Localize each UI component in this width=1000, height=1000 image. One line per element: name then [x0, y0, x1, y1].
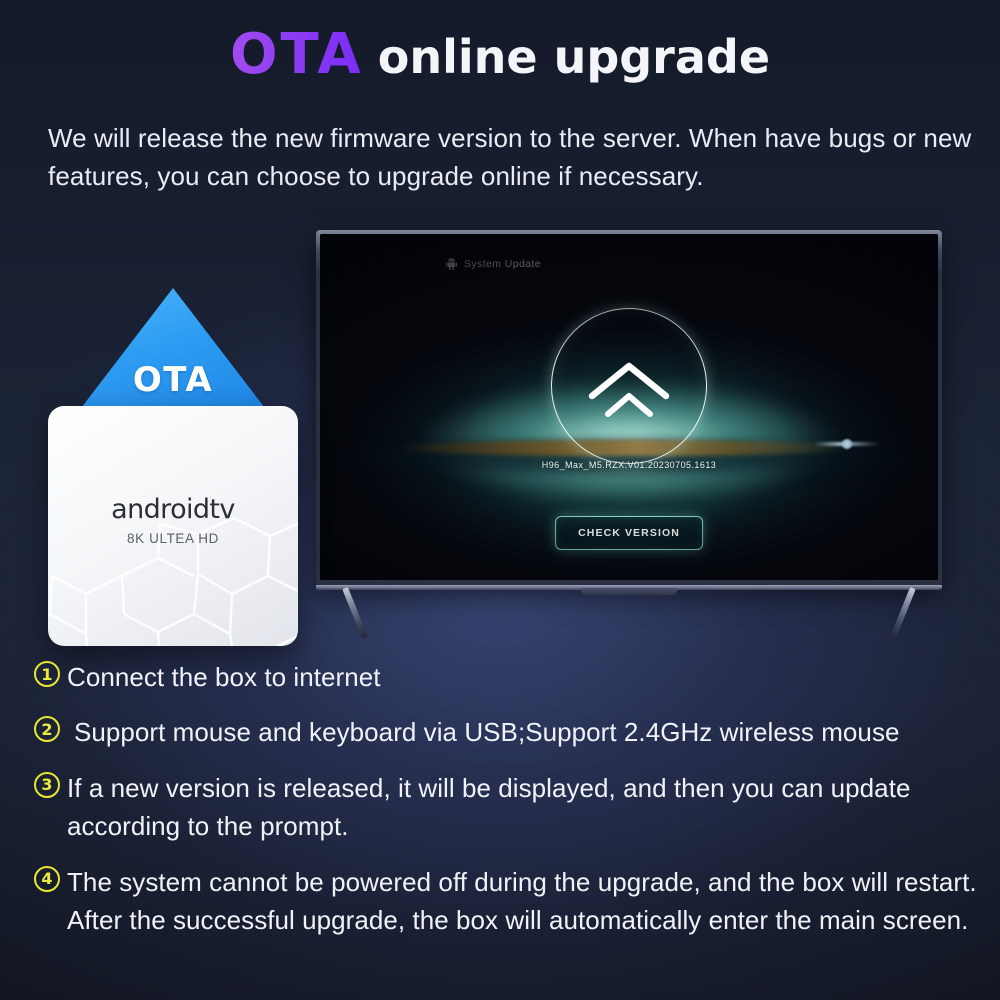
tv-bezel: System Update H96_Max_M5.RZX.V01.2023070…: [316, 230, 942, 585]
list-item: 4 The system cannot be powered off durin…: [34, 863, 979, 940]
page-title: OTAonline upgrade: [0, 22, 1000, 87]
intro-paragraph: We will release the new firmware version…: [48, 120, 988, 195]
list-item-text: If a new version is released, it will be…: [67, 769, 979, 846]
tv-leg-right: [890, 587, 916, 639]
list-item-text: Connect the box to internet: [67, 658, 381, 696]
title-rest: online upgrade: [378, 30, 770, 84]
list-item: 2 Support mouse and keyboard via USB;Sup…: [34, 713, 979, 751]
list-item-text: The system cannot be powered off during …: [67, 863, 979, 940]
android-tv-box: OTA: [48, 288, 298, 648]
list-item: 1 Connect the box to internet: [34, 658, 979, 696]
tv-screen: System Update H96_Max_M5.RZX.V01.2023070…: [320, 234, 938, 580]
androidtv-wordmark: androidtv: [111, 494, 235, 525]
box-body: androidtv 5G 8K ULTEA HD: [48, 406, 298, 646]
instructions-list: 1 Connect the box to internet 2 Support …: [34, 658, 979, 957]
ota-badge-label: OTA: [133, 360, 213, 400]
list-item-number: 1: [34, 661, 60, 687]
page-root: OTAonline upgrade We will release the ne…: [0, 0, 1000, 1000]
tv-illustration: System Update H96_Max_M5.RZX.V01.2023070…: [316, 230, 942, 640]
tv-center-logo-bar: [581, 588, 677, 595]
list-item-number: 4: [34, 866, 60, 892]
tv-leg-left: [342, 587, 368, 639]
list-item: 3 If a new version is released, it will …: [34, 769, 979, 846]
list-item-text: Support mouse and keyboard via USB;Suppo…: [67, 713, 900, 751]
box-subtitle: 8K ULTEA HD: [48, 531, 298, 546]
list-item-number: 2: [34, 716, 60, 742]
list-item-number: 3: [34, 772, 60, 798]
screen-vignette: [320, 234, 938, 580]
title-accent: OTA: [230, 22, 364, 87]
box-branding: androidtv 5G 8K ULTEA HD: [48, 494, 298, 546]
